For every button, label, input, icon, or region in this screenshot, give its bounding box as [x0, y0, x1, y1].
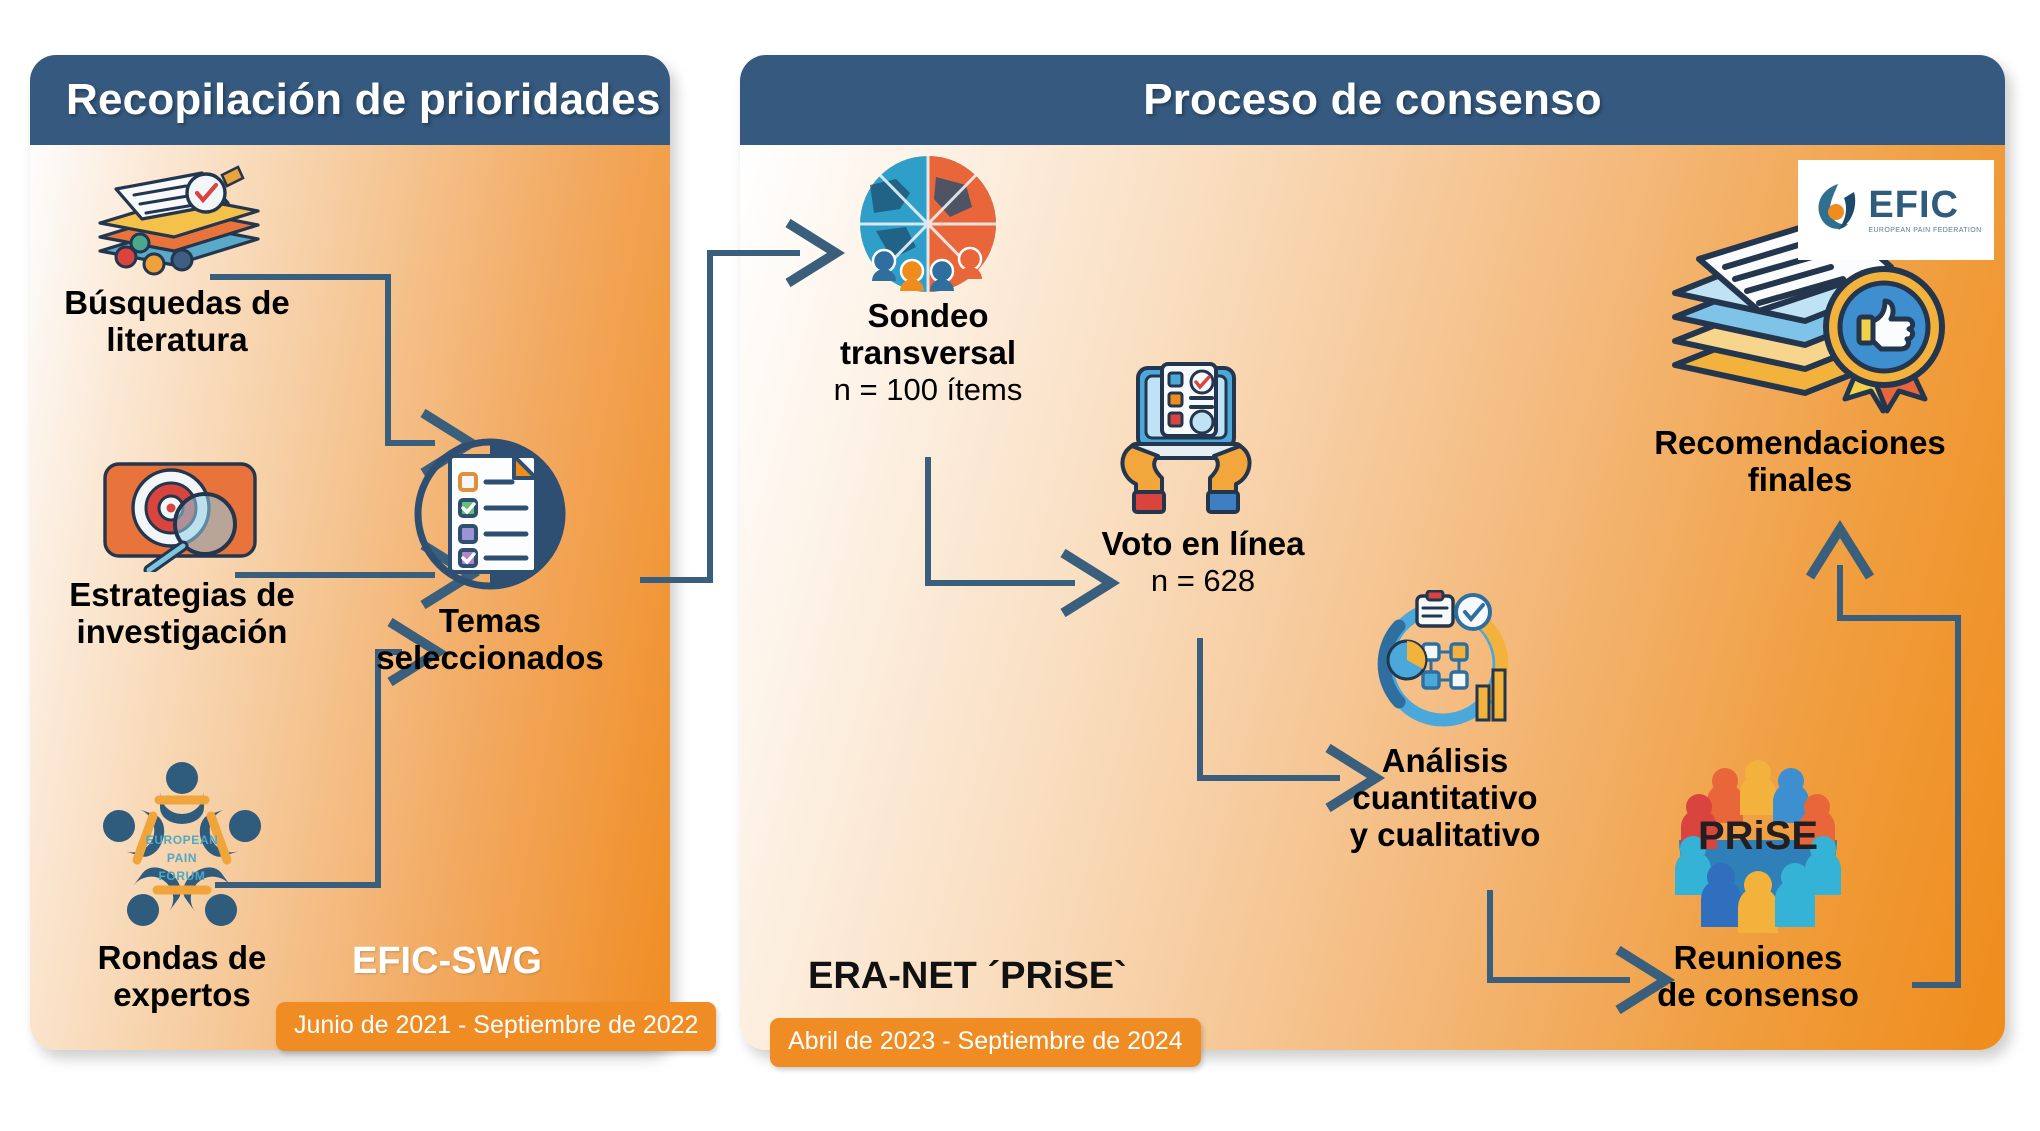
node-expert-rounds-label: Rondas de expertos — [98, 940, 267, 1014]
prise-logo-text: PRiSE — [1698, 814, 1818, 858]
node-expert-rounds[interactable]: EUROPEAN PAIN FORUM Rondas de expertos — [42, 760, 322, 1014]
data-analysis-icon — [1365, 590, 1525, 743]
global-survey-icon — [840, 155, 1016, 298]
node-literature-searches-label: Búsquedas de literatura — [64, 285, 290, 359]
target-magnifier-icon — [87, 452, 277, 577]
efic-swirl-icon — [1810, 180, 1862, 240]
prise-people-circle-logo: PRiSE — [1663, 745, 1853, 940]
panel-right-header: Proceso de consenso — [740, 55, 2005, 145]
node-consensus-meetings[interactable]: PRiSE Reuniones de consenso — [1618, 745, 1898, 1014]
efic-wordmark: EFIC EUROPEAN PAIN FEDERATION — [1868, 186, 1981, 234]
svg-text:PAIN: PAIN — [166, 851, 196, 865]
node-online-vote-sub: n = 628 — [1078, 563, 1328, 599]
node-research-strategies[interactable]: Estrategias de investigación — [42, 452, 322, 651]
efic-logo-name: EFIC — [1868, 186, 1959, 224]
node-cross-sectional-survey[interactable]: Sondeo transversal n = 100 ítems — [798, 155, 1058, 408]
node-selected-topics-label: Temas seleccionados — [376, 603, 603, 677]
node-literature-searches[interactable]: Búsquedas de literatura — [42, 165, 312, 359]
selected-topics-checklist-icon — [406, 430, 574, 603]
panel-left-header: Recopilación de prioridades — [30, 55, 670, 145]
node-consensus-meetings-label: Reuniones de consenso — [1657, 940, 1859, 1014]
infographic-canvas: Recopilación de prioridades — [0, 0, 2040, 1131]
efic-logo-box: EFIC EUROPEAN PAIN FEDERATION — [1798, 160, 1994, 260]
node-cross-sectional-survey-sub: n = 100 ítems — [834, 372, 1023, 408]
european-pain-forum-logo: EUROPEAN PAIN FORUM — [95, 760, 270, 940]
documents-checklist-icon — [82, 165, 272, 285]
node-final-recommendations-label: Recomendaciones finales — [1654, 425, 1946, 499]
efic-logo-subtitle: EUROPEAN PAIN FEDERATION — [1868, 227, 1981, 234]
right-date-badge: Abril de 2023 - Septiembre de 2024 — [770, 1018, 1201, 1067]
node-quantitative-qualitative-analysis-label: Análisis cuantitativo y cualitativo — [1350, 743, 1541, 854]
node-cross-sectional-survey-label: Sondeo transversal — [840, 298, 1016, 372]
panel-right-title: Proceso de consenso — [1143, 75, 1602, 125]
panel-left-title: Recopilación de prioridades — [66, 75, 661, 125]
node-online-vote-label: Voto en línea — [1078, 526, 1328, 563]
node-online-vote[interactable]: Voto en línea n = 628 — [1078, 360, 1328, 599]
left-date-badge: Junio de 2021 - Septiembre de 2022 — [276, 1002, 716, 1051]
node-selected-topics[interactable]: Temas seleccionados — [350, 430, 630, 677]
svg-text:EUROPEAN: EUROPEAN — [145, 833, 218, 847]
left-program-label: EFIC-SWG — [352, 940, 542, 983]
node-research-strategies-label: Estrategias de investigación — [69, 577, 295, 651]
svg-text:FORUM: FORUM — [158, 869, 205, 883]
node-quantitative-qualitative-analysis[interactable]: Análisis cuantitativo y cualitativo — [1310, 590, 1580, 854]
right-program-label: ERA-NET ´PRiSE` — [808, 955, 1127, 998]
online-vote-tablet-icon — [1116, 360, 1256, 520]
